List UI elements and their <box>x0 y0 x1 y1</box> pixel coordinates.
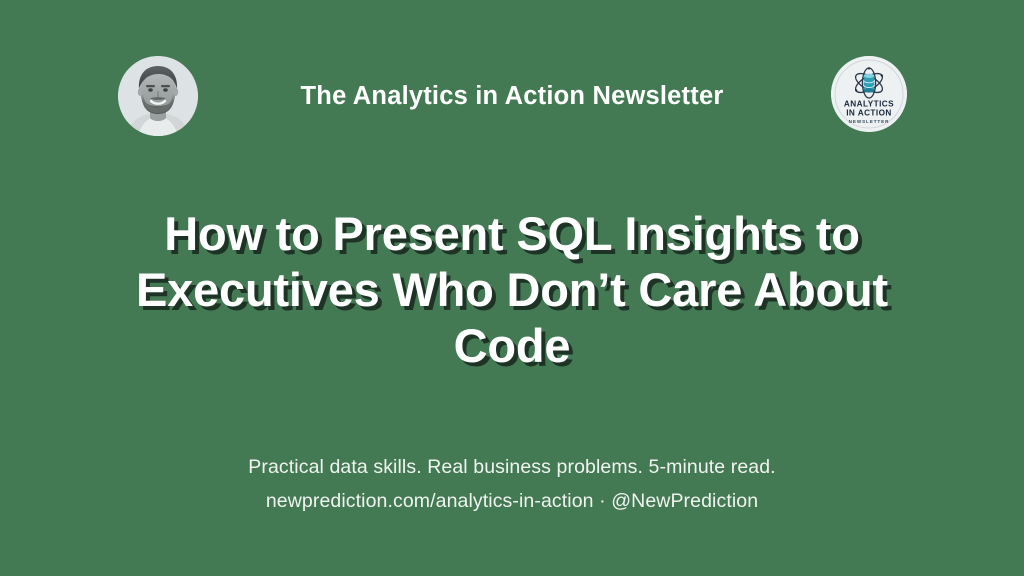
author-portrait-icon <box>118 56 198 136</box>
newsletter-title: The Analytics in Action Newsletter <box>214 56 810 136</box>
logo-line-3: NEWSLETTER <box>849 119 890 124</box>
headline-line-3: Code <box>62 318 962 374</box>
card-footer: Practical data skills. Real business pro… <box>62 450 962 518</box>
avatar <box>118 56 198 136</box>
footer-tagline: Practical data skills. Real business pro… <box>62 450 962 484</box>
headline-line-2: Executives Who Don’t Care About <box>62 262 962 318</box>
logo-line-2: IN ACTION <box>846 108 892 117</box>
headline: How to Present SQL Insights to Executive… <box>62 206 962 374</box>
headline-line-1: How to Present SQL Insights to <box>62 206 962 262</box>
logo-line-1: ANALYTICS <box>844 100 894 109</box>
brand-logo: ANALYTICS IN ACTION NEWSLETTER <box>831 56 907 132</box>
atom-database-icon: ANALYTICS IN ACTION NEWSLETTER <box>831 56 907 132</box>
social-share-card: The Analytics in Action Newsletter <box>0 0 1024 576</box>
footer-url-handle: newprediction.com/analytics-in-action · … <box>62 484 962 518</box>
card-header: The Analytics in Action Newsletter <box>0 56 1024 136</box>
